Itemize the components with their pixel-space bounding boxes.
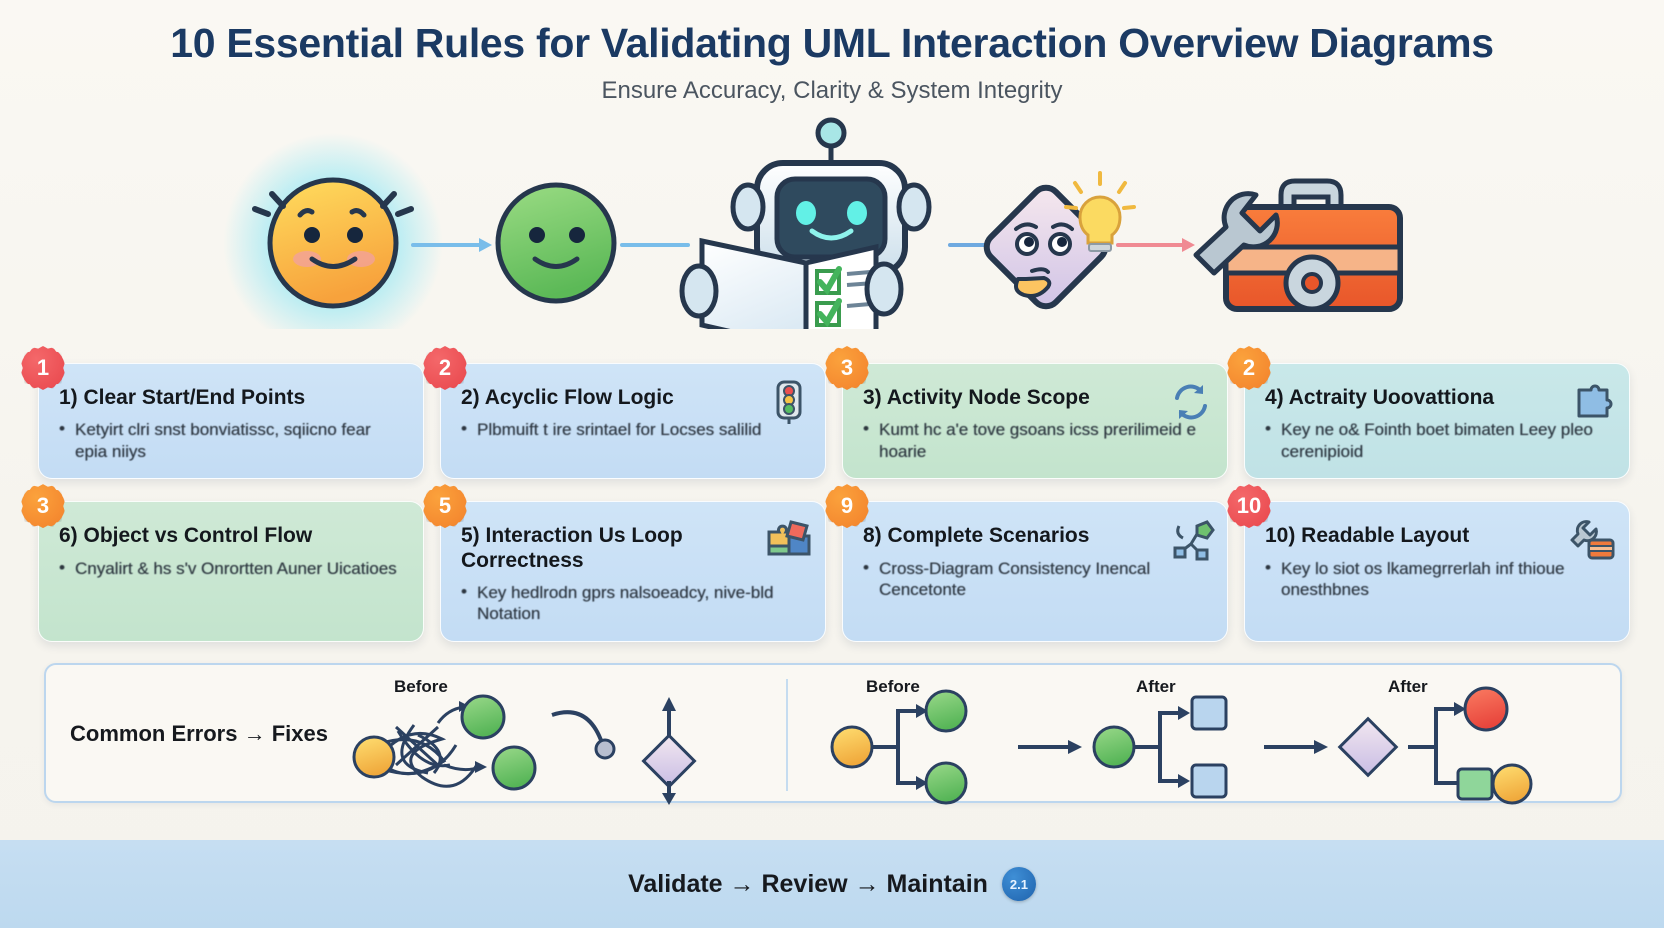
rule-card-7[interactable]: 9 8) Complete Scenarios Cross-Diagram Co… — [842, 501, 1228, 642]
rule-card-1[interactable]: 1 1) Clear Start/End Points Ketyirt clri… — [38, 363, 424, 479]
rule-card-8[interactable]: 10 10) Readable Layout Key lo siot os lk… — [1244, 501, 1630, 642]
node-start-yellow — [354, 737, 394, 777]
rule-title-5: 6) Object vs Control Flow — [59, 524, 403, 548]
robot-with-checklist-icon — [682, 120, 929, 329]
common-errors-panel: Common Errors → Fixes Before Before Afte… — [44, 663, 1622, 803]
rule-bullets-1: Ketyirt clri snst bonviatissc, sqiicno f… — [59, 419, 403, 462]
rule-bullets-6: Key hedlrodn gprs nalsoeadcy, nive-bld N… — [461, 582, 805, 625]
rule-badge-7: 9 — [825, 484, 869, 528]
node-rect-b — [1192, 765, 1226, 797]
rule-card-6[interactable]: 5 5) Interaction Us Loop Correctness Key… — [440, 501, 826, 642]
rule-bullets-4: Key ne o& Fointh boet bimaten Leey pleo … — [1265, 419, 1609, 462]
rule-badge-5: 3 — [21, 484, 65, 528]
green-smiley-icon — [498, 185, 614, 301]
hero-arrow-4-icon — [1118, 238, 1195, 252]
node-rect-a — [1192, 697, 1226, 729]
before-after-diagrams-svg — [46, 665, 1624, 805]
hero-illustration-strip — [0, 111, 1664, 329]
rule-bullet: Cross-Diagram Consistency Inencal Cencet… — [863, 558, 1207, 601]
rule-badge-8: 10 — [1227, 484, 1271, 528]
rule-card-4[interactable]: 2 4) Actraity Uoovattiona Key ne o& Foin… — [1244, 363, 1630, 479]
clean-flow-after-1 — [1132, 706, 1190, 788]
rule-badge-4: 2 — [1227, 346, 1271, 390]
rule-title-2: 2) Acyclic Flow Logic — [461, 386, 805, 410]
rule-bullet: Ketyirt clri snst bonviatissc, sqiicno f… — [59, 419, 403, 462]
rule-bullets-7: Cross-Diagram Consistency Inencal Cencet… — [863, 558, 1207, 601]
puzzle-pieces-icon — [765, 516, 813, 564]
rule-badge-3: 3 — [825, 346, 869, 390]
transition-arrow-2 — [1264, 740, 1328, 754]
header: 10 Essential Rules for Validating UML In… — [0, 0, 1664, 105]
self-loop-error — [552, 712, 614, 758]
node-green-rect-after — [1458, 769, 1492, 799]
rule-bullet: Plbmuift t ire srintael for Locses salil… — [461, 419, 805, 440]
footer-bar: Validate → Review → Maintain 2.1 — [0, 840, 1664, 928]
page-subtitle: Ensure Accuracy, Clarity & System Integr… — [0, 77, 1664, 105]
node-yellow-after — [1493, 765, 1531, 803]
rule-title-4: 4) Actraity Uoovattiona — [1265, 386, 1609, 410]
rule-bullet: Cnyalirt & hs s'v Onrortten Auner Uicati… — [59, 558, 403, 579]
rule-card-3[interactable]: 3 3) Activity Node Scope Kumt hc a'e tov… — [842, 363, 1228, 479]
page-title: 10 Essential Rules for Validating UML In… — [0, 22, 1664, 65]
rule-badge-1: 1 — [21, 346, 65, 390]
glowing-yellow-smiley-icon — [223, 133, 443, 329]
rule-bullets-3: Kumt hc a'e tove gsoans icss prerilimeid… — [863, 419, 1207, 462]
rules-card-grid: 1 1) Clear Start/End Points Ketyirt clri… — [38, 363, 1630, 642]
hero-svg — [0, 111, 1664, 329]
rule-bullets-8: Key lo siot os lkamegrrerlah inf thioue … — [1265, 558, 1609, 601]
clean-flow-before — [870, 704, 928, 790]
node-green-after — [1094, 727, 1134, 767]
rule-badge-2: 2 — [423, 346, 467, 390]
node-decision-after — [1340, 719, 1397, 776]
version-badge: 2.1 — [1002, 867, 1036, 901]
rule-bullet: Key ne o& Fointh boet bimaten Leey pleo … — [1265, 419, 1609, 462]
node-yellow-clean — [832, 727, 872, 767]
node-green-a — [462, 696, 504, 738]
toolbox-icon — [1196, 181, 1400, 309]
decision-vertical-flow — [644, 697, 695, 805]
transition-arrow-1 — [1018, 740, 1082, 754]
node-red-after — [1465, 688, 1507, 730]
rule-badge-6: 5 — [423, 484, 467, 528]
rule-title-8: 10) Readable Layout — [1265, 524, 1609, 548]
rule-bullets-2: Plbmuift t ire srintael for Locses salil… — [461, 419, 805, 440]
infographic-poster: 10 Essential Rules for Validating UML In… — [0, 0, 1664, 928]
rule-bullet: Key hedlrodn gprs nalsoeadcy, nive-bld N… — [461, 582, 805, 625]
node-green-b — [493, 747, 535, 789]
node-green-clean-b — [926, 763, 966, 803]
rule-bullets-5: Cnyalirt & hs s'v Onrortten Auner Uicati… — [59, 558, 403, 579]
node-green-clean-a — [926, 691, 966, 731]
rule-title-1: 1) Clear Start/End Points — [59, 386, 403, 410]
rule-bullet: Key lo siot os lkamegrrerlah inf thioue … — [1265, 558, 1609, 601]
footer-text: Validate → Review → Maintain — [628, 870, 988, 899]
rule-title-3: 3) Activity Node Scope — [863, 386, 1207, 410]
rule-card-2[interactable]: 2 2) Acyclic Flow Logic Plbmuift t ire s… — [440, 363, 826, 479]
rule-card-5[interactable]: 3 6) Object vs Control Flow Cnyalirt & h… — [38, 501, 424, 642]
rule-title-6: 5) Interaction Us Loop Correctness — [461, 524, 805, 573]
rule-bullet: Kumt hc a'e tove gsoans icss prerilimeid… — [863, 419, 1207, 462]
rule-title-7: 8) Complete Scenarios — [863, 524, 1207, 548]
